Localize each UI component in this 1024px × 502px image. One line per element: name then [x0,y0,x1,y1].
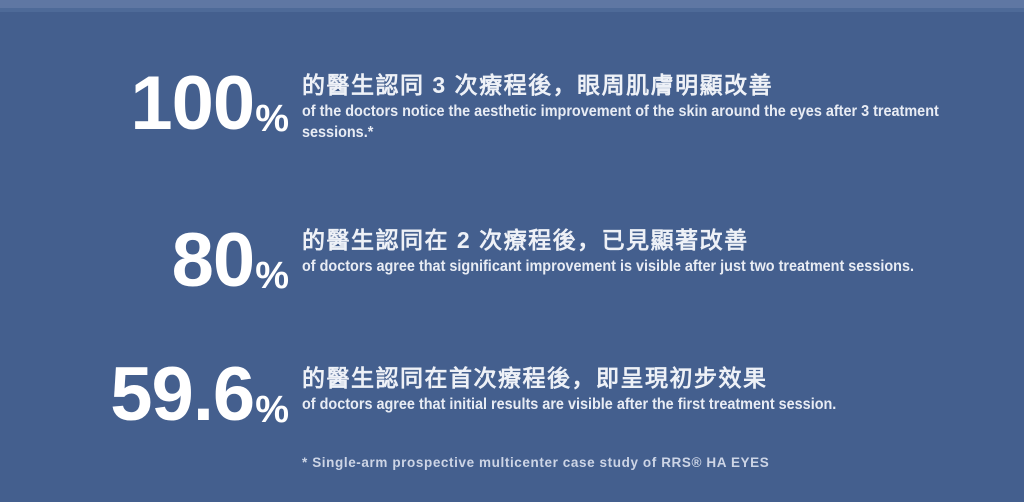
stat-description-en: of doctors agree that initial results ar… [302,395,973,415]
percent-symbol: % [255,98,289,140]
statistics-list: 100% 的醫生認同 3 次療程後，眼周肌膚明顯改善 of the doctor… [0,58,1024,433]
infographic-slide: 100% 的醫生認同 3 次療程後，眼周肌膚明顯改善 of the doctor… [0,0,1024,502]
study-footnote: * Single-arm prospective multicenter cas… [302,455,769,470]
stat-value: 100 [130,61,254,146]
stat-value: 80 [172,218,255,303]
percent-symbol: % [255,389,289,431]
top-accent-band [0,0,1024,8]
top-accent-band-shadow [0,8,1024,12]
stat-copy: 的醫生認同在 2 次療程後，已見顯著改善 of doctors agree th… [288,221,1024,278]
stat-value: 59.6 [110,352,254,437]
stat-copy: 的醫生認同 3 次療程後，眼周肌膚明顯改善 of the doctors not… [288,64,1024,143]
stat-figure: 80% [0,221,288,299]
stat-description-en: of the doctors notice the aesthetic impr… [302,102,953,143]
stat-figure: 100% [0,64,288,142]
stat-figure: 59.6% [0,355,288,433]
stat-row: 100% 的醫生認同 3 次療程後，眼周肌膚明顯改善 of the doctor… [0,64,1024,143]
stat-headline-zh: 的醫生認同在 2 次療程後，已見顯著改善 [302,227,1024,254]
stat-headline-zh: 的醫生認同在首次療程後，即呈現初步效果 [302,365,1024,392]
stat-copy: 的醫生認同在首次療程後，即呈現初步效果 of doctors agree tha… [288,355,1024,416]
stat-headline-zh: 的醫生認同 3 次療程後，眼周肌膚明顯改善 [302,72,1024,99]
stat-row: 80% 的醫生認同在 2 次療程後，已見顯著改善 of doctors agre… [0,221,1024,299]
stat-description-en: of doctors agree that significant improv… [302,257,973,277]
stat-row: 59.6% 的醫生認同在首次療程後，即呈現初步效果 of doctors agr… [0,355,1024,433]
percent-symbol: % [255,255,289,297]
